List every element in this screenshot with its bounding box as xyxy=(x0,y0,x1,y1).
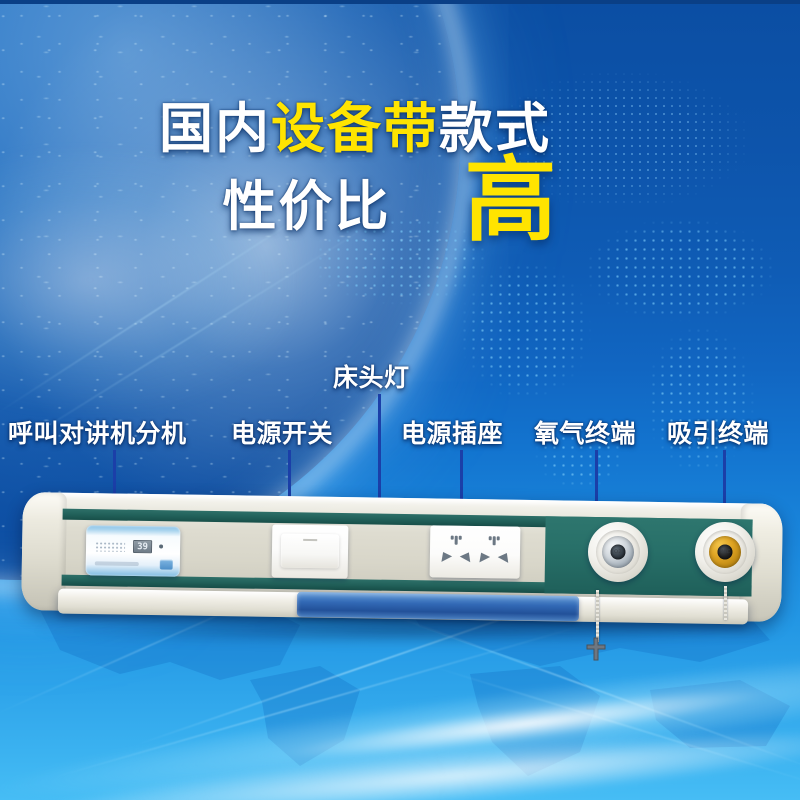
intercom-display: 39 xyxy=(133,540,152,553)
callout-label-power-socket: 电源插座 xyxy=(401,414,503,450)
socket-pin-right-icon xyxy=(460,549,474,562)
intercom-slot xyxy=(95,561,139,566)
bed-lamp-diffuser[interactable] xyxy=(297,592,579,621)
callout-label-oxygen: 氧气终端 xyxy=(534,414,636,450)
socket-pin-right-icon xyxy=(498,550,512,563)
oxygen-hose-cord xyxy=(596,590,599,642)
suction-terminal-mark: VAC xyxy=(720,549,731,555)
suction-hose-cord xyxy=(724,586,727,620)
cord-pull-weight-icon xyxy=(583,636,609,662)
power-socket-plate[interactable] xyxy=(430,525,521,578)
headline-big-word: 高 xyxy=(464,147,557,254)
status-led-icon xyxy=(159,544,163,548)
power-switch-rocker[interactable] xyxy=(281,534,340,569)
poster-canvas: 国内设备带款式 性价比高 呼叫对讲机分机 电源开关 床头灯 电源插座 氧气终端 … xyxy=(0,0,800,800)
switch-indicator-mark xyxy=(303,539,317,541)
medical-gas-panel: 39 xyxy=(22,498,782,638)
socket-outlet-left[interactable] xyxy=(439,535,473,568)
socket-pin-left-icon xyxy=(476,550,490,563)
callout-label-intercom: 呼叫对讲机分机 xyxy=(8,414,187,450)
speaker-grille-icon xyxy=(95,541,125,551)
power-switch-plate[interactable] xyxy=(272,524,349,578)
socket-outlet-right[interactable] xyxy=(477,536,511,569)
top-edge-band xyxy=(0,0,800,4)
intercom-call-button[interactable] xyxy=(160,559,173,569)
socket-pin-left-icon xyxy=(438,549,452,562)
headline-prefix: 国内 xyxy=(159,97,271,160)
oxygen-terminal-outlet[interactable]: O2 xyxy=(588,522,649,583)
callout-label-suction: 吸引终端 xyxy=(667,414,769,450)
headline-line-1: 国内设备带款式 xyxy=(0,84,800,163)
headline-highlight: 设备带 xyxy=(271,97,439,160)
socket-pin-vertical-icon xyxy=(493,536,496,545)
callout-label-bed-lamp: 床头灯 xyxy=(333,358,410,394)
socket-pin-vertical-icon xyxy=(455,536,458,545)
nurse-call-intercom-unit[interactable]: 39 xyxy=(86,525,181,576)
suction-terminal-outlet[interactable]: VAC xyxy=(695,522,756,583)
headline-subtext: 性价比 xyxy=(222,175,390,238)
headline-line-2: 性价比高 xyxy=(0,160,800,243)
callout-label-power-switch: 电源开关 xyxy=(231,414,333,450)
oxygen-terminal-mark: O2 xyxy=(614,549,622,555)
